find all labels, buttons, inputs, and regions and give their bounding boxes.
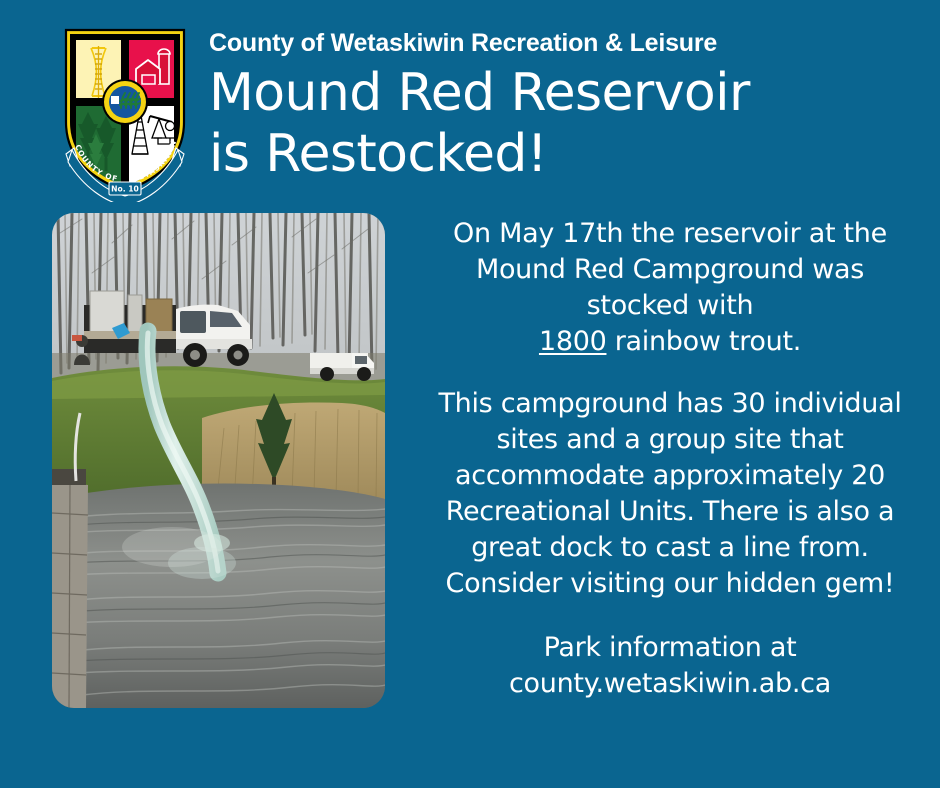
poster-canvas: COUNTY OF WETASKIWIN No. 10 County of We… — [0, 0, 940, 788]
park-website-url[interactable]: county.wetaskiwin.ab.ca — [414, 666, 926, 702]
county-crest-logo: COUNTY OF WETASKIWIN No. 10 — [62, 26, 188, 202]
p2-line-2: sites and a group site that — [414, 422, 926, 458]
reservoir-stocking-photo — [52, 213, 385, 708]
p1-line-1: On May 17th the reservoir at the — [414, 216, 926, 252]
crest-center-roundel — [102, 79, 148, 125]
photo-illustration — [52, 213, 385, 708]
p2-line-3: accommodate approximately 20 — [414, 458, 926, 494]
truck-deck-rail — [84, 331, 176, 339]
trout-count-suffix: rainbow trout. — [606, 326, 801, 357]
paragraph-campground-details: This campground has 30 individual sites … — [414, 386, 926, 602]
p1-line-2: Mound Red Campground was — [414, 252, 926, 288]
photo-dock — [52, 469, 88, 708]
headline-line-2: is Restocked! — [209, 124, 909, 185]
ribbon-text-number: No. 10 — [111, 184, 139, 193]
poster-body-copy: On May 17th the reservoir at the Mound R… — [414, 216, 926, 702]
headline-line-1: Mound Red Reservoir — [209, 63, 909, 124]
truck-window-rear — [180, 311, 206, 333]
poster-header: COUNTY OF WETASKIWIN No. 10 County of We… — [0, 0, 940, 210]
header-text-block: County of Wetaskiwin Recreation & Leisur… — [209, 27, 909, 185]
photo-foam — [122, 527, 222, 567]
p2-line-5: great dock to cast a line from. — [414, 530, 926, 566]
p2-line-4: Recreational Units. There is also a — [414, 494, 926, 530]
roundel-white-square — [111, 96, 119, 104]
paragraph-stocking-details: On May 17th the reservoir at the Mound R… — [414, 216, 926, 360]
p2-line-1: This campground has 30 individual — [414, 386, 926, 422]
p2-line-6: Consider visiting our hidden gem! — [414, 566, 926, 602]
poster-headline: Mound Red Reservoir is Restocked! — [209, 63, 909, 185]
p1-line-3: stocked with — [414, 288, 926, 324]
crest-svg: COUNTY OF WETASKIWIN No. 10 — [62, 26, 188, 202]
truck-tank-mid — [128, 295, 142, 333]
p1-line-4: 1800 rainbow trout. — [414, 324, 926, 360]
poster-eyebrow: County of Wetaskiwin Recreation & Leisur… — [209, 27, 909, 59]
p3-line-1: Park information at — [414, 630, 926, 666]
paragraph-park-information: Park information at county.wetaskiwin.ab… — [414, 630, 926, 702]
trout-count: 1800 — [539, 326, 607, 357]
